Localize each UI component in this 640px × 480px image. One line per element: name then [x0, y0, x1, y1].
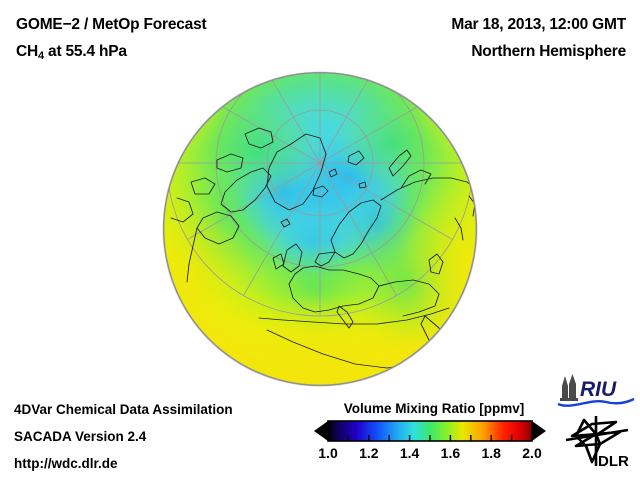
riu-logo: RIU — [556, 372, 636, 410]
pressure-level: at 55.4 hPa — [44, 43, 127, 60]
colorbar-tick-labels: 1.01.21.41.61.82.0 — [300, 445, 560, 467]
colorbar-tick-label: 1.2 — [359, 445, 378, 461]
colorbar-tick-label: 2.0 — [522, 445, 541, 461]
map-svg — [163, 72, 477, 386]
colorbar — [314, 419, 546, 443]
colorbar-svg — [314, 419, 546, 443]
colorbar-title: Volume Mixing Ratio [ppmv] — [326, 401, 542, 416]
region-label: Northern Hemisphere — [471, 43, 626, 61]
page-title: GOME−2 / MetOp Forecast — [16, 16, 207, 34]
colorbar-extend-high-arrow — [532, 421, 546, 441]
dlr-logo: DLR — [562, 414, 636, 470]
colorbar-tick-label: 1.0 — [318, 445, 337, 461]
footer-line-version: SACADA Version 2.4 — [14, 429, 146, 444]
colorbar-tick-label: 1.6 — [441, 445, 460, 461]
colorbar-extend-low-arrow — [314, 421, 328, 441]
colorbar-tick-label: 1.8 — [481, 445, 500, 461]
dlr-wordmark: DLR — [598, 453, 629, 470]
species-name: CH — [16, 43, 38, 60]
colorbar-tick-label: 1.4 — [400, 445, 419, 461]
footer-line-product: 4DVar Chemical Data Assimilation — [14, 402, 233, 417]
globe-disc — [163, 72, 477, 386]
timestamp-label: Mar 18, 2013, 12:00 GMT — [451, 16, 626, 34]
figure-canvas: GOME−2 / MetOp Forecast CH4 at 55.4 hPa … — [0, 0, 640, 480]
globe-map — [163, 72, 477, 386]
species-level-label: CH4 at 55.4 hPa — [16, 43, 127, 62]
riu-wordmark: RIU — [580, 378, 617, 401]
footer-line-url[interactable]: http://wdc.dlr.de — [14, 456, 118, 471]
cathedral-spires-icon — [560, 374, 578, 401]
